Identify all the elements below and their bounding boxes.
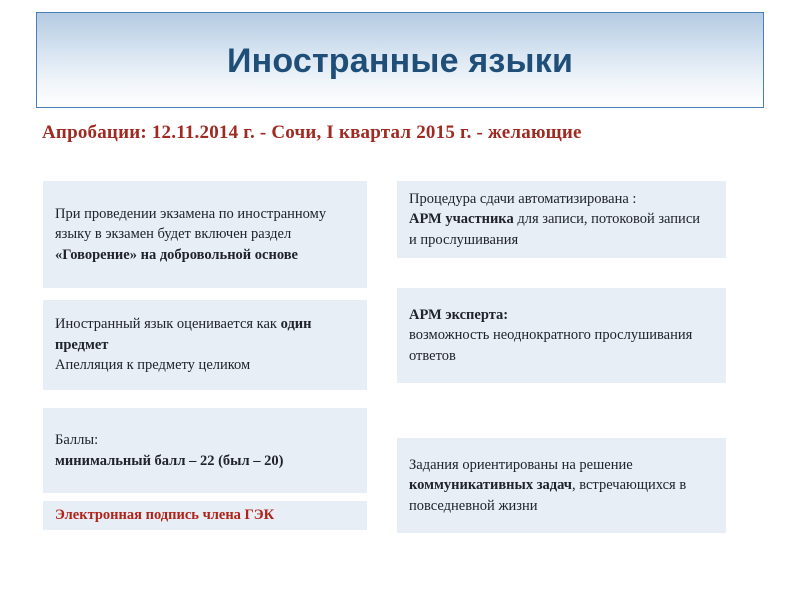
tasks-bold-phrase: коммуникативных задач (409, 477, 572, 493)
scores-label: Баллы: (55, 430, 355, 451)
one-subject-bold-1: один (281, 316, 312, 332)
speaking-line-3-bold: «Говорение» на добровольной основе (55, 247, 298, 263)
info-box-automation: Процедура сдачи автоматизирована : АРМ у… (397, 181, 726, 258)
speaking-line-1: При проведении экзамена по иностранному (55, 204, 355, 225)
tasks-line-1: Задания ориентированы на решение (409, 455, 714, 476)
one-subject-plain-1: Иностранный язык оценивается как (55, 316, 281, 332)
electronic-signature-text: Электронная подпись члена ГЭК (55, 505, 355, 526)
expert-line-2: возможность неоднократного прослушивания (409, 325, 714, 346)
info-box-one-subject: Иностранный язык оценивается как один пр… (43, 300, 367, 390)
info-box-communicative-tasks: Задания ориентированы на решение коммуни… (397, 438, 726, 533)
info-box-speaking-section: При проведении экзамена по иностранному … (43, 181, 367, 288)
automation-arm-participant-bold: АРМ участника (409, 211, 514, 227)
approbation-dates-line: Апробации: 12.11.2014 г. - Сочи, I кварт… (42, 122, 758, 144)
tasks-line-3: повседневной жизни (409, 496, 714, 517)
expert-heading-bold: АРМ эксперта: (409, 307, 508, 323)
automation-line-1: Процедура сдачи автоматизирована : (409, 189, 714, 210)
page-title: Иностранные языки (227, 43, 573, 80)
slide-canvas: Иностранные языки Апробации: 12.11.2014 … (0, 0, 800, 600)
one-subject-appeal-line: Апелляция к предмету целиком (55, 355, 355, 376)
automation-line-2-plain: для записи, потоковой записи (514, 211, 700, 227)
one-subject-bold-2: предмет (55, 337, 108, 353)
scores-min-value: минимальный балл – 22 (был – 20) (55, 453, 283, 469)
info-box-scores: Баллы: минимальный балл – 22 (был – 20) (43, 408, 367, 493)
info-box-electronic-signature: Электронная подпись члена ГЭК (43, 501, 367, 530)
info-box-expert-workstation: АРМ эксперта: возможность неоднократного… (397, 288, 726, 383)
automation-line-3: и прослушивания (409, 230, 714, 251)
expert-line-3: ответов (409, 346, 714, 367)
slide-title-banner: Иностранные языки (36, 12, 764, 108)
tasks-line-2-plain: , встречающихся в (572, 477, 686, 493)
speaking-line-2: языку в экзамен будет включен раздел (55, 224, 355, 245)
